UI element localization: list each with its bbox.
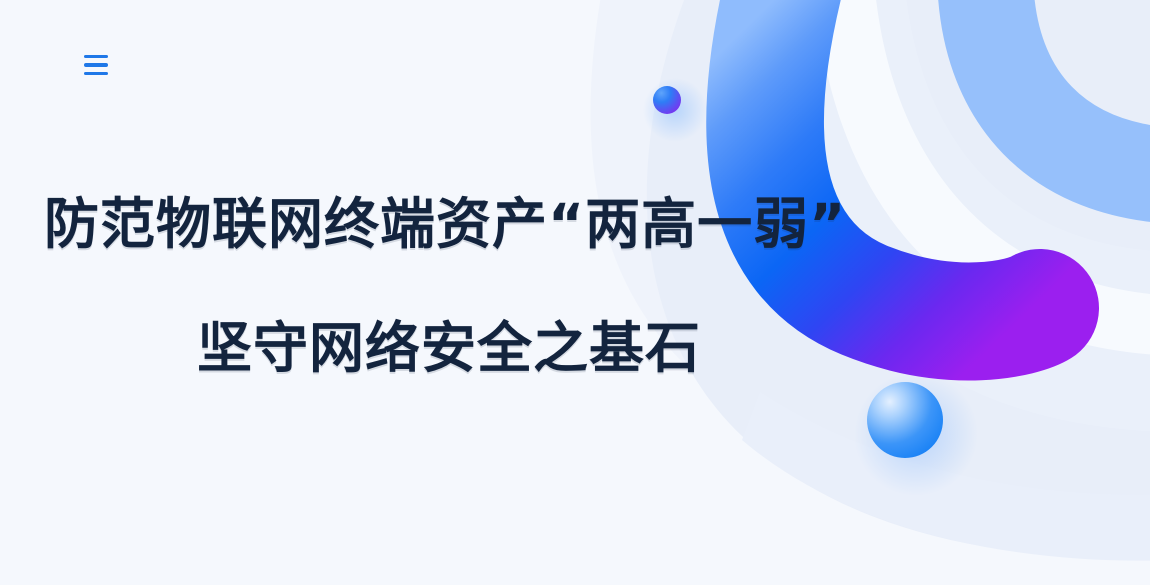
hamburger-menu-icon-bar-2 [84, 63, 108, 67]
hamburger-menu-icon-bar-3 [84, 72, 108, 76]
large-sphere-glow [854, 372, 978, 496]
slide-title-line-1: 防范物联网终端资产“两高一弱” [44, 186, 900, 262]
hamburger-menu-icon-bar-1 [84, 55, 108, 59]
slide-title-block: 防范物联网终端资产“两高一弱” 坚守网络安全之基石 [0, 186, 900, 386]
small-gradient-sphere [653, 86, 681, 114]
hamburger-menu-button[interactable] [84, 50, 114, 80]
pale-gray-lower-band [742, 392, 1150, 561]
light-blue-arc [985, 0, 1150, 176]
presentation-slide: 防范物联网终端资产“两高一弱” 坚守网络安全之基石 [0, 0, 1150, 585]
slide-title-line-2: 坚守网络安全之基石 [44, 310, 854, 386]
large-blue-sphere [867, 382, 943, 458]
small-sphere-glow [643, 78, 707, 142]
